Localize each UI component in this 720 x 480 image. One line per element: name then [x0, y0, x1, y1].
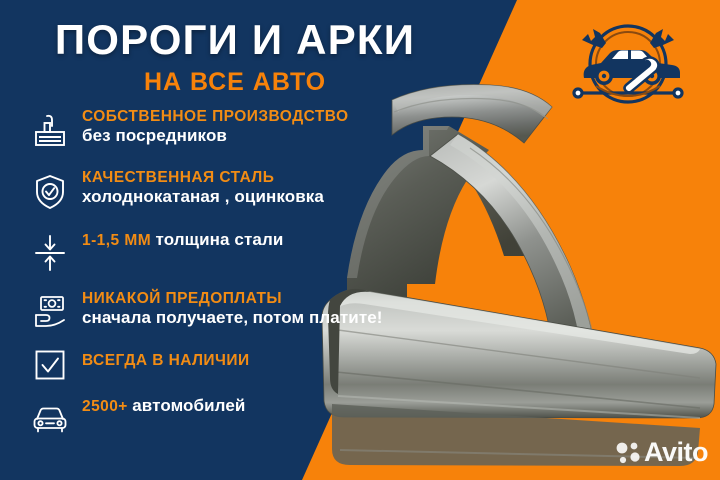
feature-title: 1-1,5 ММ — [82, 232, 151, 249]
advertisement-banner: ПОРОГИ И АРКИ НА ВСЕ АВТО СОБСТВЕННОЕ ПР… — [0, 0, 720, 480]
feature-title: КАЧЕСТВЕННАЯ СТАЛЬ — [82, 169, 274, 186]
feature-item-no-prepayment: НИКАКОЙ ПРЕДОПЛАТЫ сначала получаете, по… — [28, 288, 448, 334]
feature-title: 2500+ — [82, 398, 128, 415]
feature-title: СОБСТВЕННОЕ ПРОИЗВОДСТВО — [82, 108, 349, 125]
avito-watermark: Avito — [615, 439, 708, 466]
avito-dots-icon — [615, 440, 641, 466]
feature-item-car-count: 2500+ автомобилей — [28, 394, 448, 440]
page-subtitle: НА ВСЕ АВТО — [0, 68, 470, 97]
headline-block: ПОРОГИ И АРКИ НА ВСЕ АВТО — [0, 18, 470, 97]
page-title: ПОРОГИ И АРКИ — [0, 18, 470, 62]
feature-subtitle: толщина стали — [156, 230, 284, 249]
car-front-icon — [28, 394, 72, 440]
car-repair-logo — [548, 16, 708, 118]
feature-text-block: НИКАКОЙ ПРЕДОПЛАТЫ сначала получаете, по… — [82, 288, 448, 328]
checkbox-icon — [28, 344, 72, 382]
feature-text-block: 2500+ автомобилей — [82, 394, 245, 416]
feature-title: ВСЕГДА В НАЛИЧИИ — [82, 352, 250, 369]
feature-title: НИКАКОЙ ПРЕДОПЛАТЫ — [82, 290, 282, 307]
feature-subtitle: холоднокатаная , оцинковка — [82, 187, 324, 206]
feature-subtitle-line2: потом платите! — [253, 308, 383, 327]
feature-subtitle: сначала получаете, — [82, 308, 248, 327]
feature-item-steel-quality: КАЧЕСТВЕННАЯ СТАЛЬ холоднокатаная , оцин… — [28, 167, 448, 213]
feature-text-block: 1-1,5 ММ толщина стали — [82, 228, 283, 250]
feature-item-thickness: 1-1,5 ММ толщина стали — [28, 228, 448, 274]
thickness-arrows-icon — [28, 228, 72, 274]
feature-text-block: КАЧЕСТВЕННАЯ СТАЛЬ холоднокатаная , оцин… — [82, 167, 448, 207]
feature-item-production: СОБСТВЕННОЕ ПРОИЗВОДСТВО без посредников — [28, 106, 448, 152]
feature-text-block: ВСЕГДА В НАЛИЧИИ — [82, 344, 250, 370]
shield-check-icon — [28, 167, 72, 213]
avito-wordmark: Avito — [644, 439, 708, 466]
money-in-hand-icon — [28, 288, 72, 334]
feature-subtitle: без посредников — [82, 126, 227, 145]
factory-icon — [28, 106, 72, 152]
feature-list: СОБСТВЕННОЕ ПРОИЗВОДСТВО без посредников… — [28, 106, 448, 449]
feature-subtitle: автомобилей — [132, 396, 245, 415]
feature-item-in-stock: ВСЕГДА В НАЛИЧИИ — [28, 344, 448, 382]
feature-text-block: СОБСТВЕННОЕ ПРОИЗВОДСТВО без посредников — [82, 106, 448, 146]
